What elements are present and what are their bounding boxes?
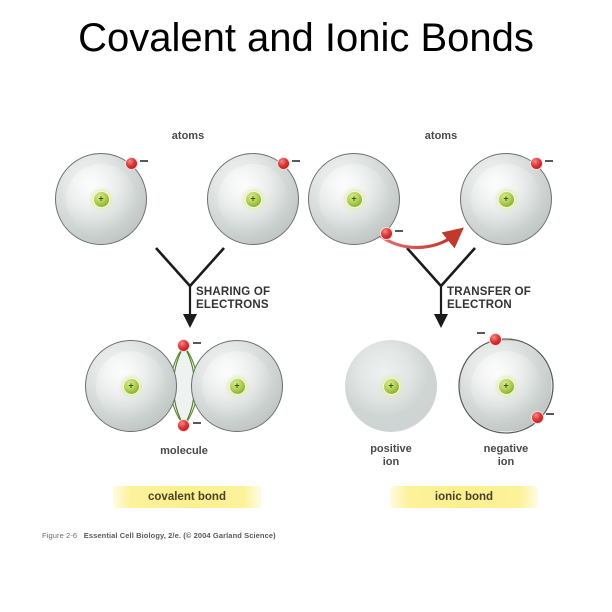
negative-ion-electron-top-charge-mark (477, 332, 485, 334)
right-atoms-label: atoms (391, 130, 491, 143)
negative-ion-label: negative ion (456, 443, 556, 469)
nucleus-charge-label: + (388, 381, 393, 390)
bonding-diagram: atoms atoms + + SHARING OF ELECTRONS + + (0, 118, 612, 558)
nucleus: + (346, 191, 363, 208)
nucleus-charge-label: + (128, 381, 133, 390)
left-atoms-label: atoms (138, 130, 238, 143)
negative-ion-electron-bottom (531, 411, 544, 424)
molecule-atom-right: + (191, 340, 283, 432)
nucleus-charge-label: + (503, 381, 508, 390)
nucleus: + (245, 191, 262, 208)
figure-credit: Figure 2-6 Essential Cell Biology, 2/e. … (42, 531, 276, 541)
nucleus: + (123, 378, 140, 395)
page-title: Covalent and Ionic Bonds (0, 14, 612, 62)
electron-charge-mark (395, 230, 403, 232)
electron (530, 157, 543, 170)
nucleus: + (498, 191, 515, 208)
electron-charge-mark (545, 160, 553, 162)
electron-charge-mark (292, 160, 300, 162)
ionic-bond-badge: ionic bond (390, 486, 538, 508)
nucleus-charge-label: + (503, 194, 508, 203)
transfer-of-electron-label: TRANSFER OF ELECTRON (447, 286, 577, 312)
sharing-of-electrons-label: SHARING OF ELECTRONS (196, 286, 316, 312)
electron (277, 157, 290, 170)
shared-electron-bottom-charge-mark (193, 422, 201, 424)
molecule-label: molecule (134, 445, 234, 458)
molecule-atom-left: + (85, 340, 177, 432)
nucleus-charge-label: + (351, 194, 356, 203)
electron (125, 157, 138, 170)
nucleus: + (383, 378, 400, 395)
figure-source: Essential Cell Biology, 2/e. (© 2004 Gar… (84, 531, 276, 540)
shared-electron-top (177, 339, 190, 352)
shared-electron-top-charge-mark (193, 342, 201, 344)
positive-ion-label: positive ion (341, 443, 441, 469)
negative-ion-electron-top (489, 333, 502, 346)
right-atom-2: + (460, 153, 552, 245)
electron-charge-mark (140, 160, 148, 162)
right-atom-1: + (308, 153, 400, 245)
negative-ion-electron-bottom-charge-mark (546, 413, 554, 415)
electron (380, 227, 393, 240)
left-atom-2: + (207, 153, 299, 245)
shared-electron-bottom (177, 419, 190, 432)
figure-number: Figure 2-6 (42, 531, 77, 540)
nucleus-charge-label: + (234, 381, 239, 390)
covalent-bond-badge: covalent bond (113, 486, 261, 508)
covalent-bond-label: covalent bond (148, 491, 226, 503)
ionic-bond-label: ionic bond (435, 491, 493, 503)
nucleus-charge-label: + (250, 194, 255, 203)
left-atom-1: + (55, 153, 147, 245)
positive-ion: + (345, 340, 437, 432)
nucleus: + (93, 191, 110, 208)
nucleus: + (498, 378, 515, 395)
nucleus: + (229, 378, 246, 395)
nucleus-charge-label: + (98, 194, 103, 203)
